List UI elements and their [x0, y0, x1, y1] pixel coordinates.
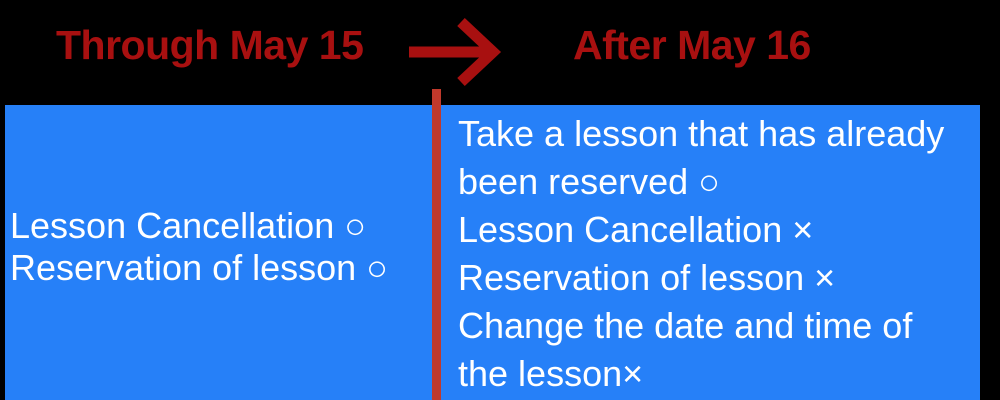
column-before: Lesson Cancellation ○ Reservation of les… [10, 205, 388, 289]
header-before-label: Through May 15 [56, 25, 363, 66]
comparison-graphic: Through May 15 After May 16 Lesson Cance… [0, 0, 1000, 400]
list-item: Lesson Cancellation × [458, 206, 944, 254]
column-divider [432, 89, 441, 400]
list-item: Lesson Cancellation ○ [10, 205, 388, 247]
arrow-right-icon [403, 14, 503, 88]
list-item: Take a lesson that has already [458, 110, 944, 158]
list-item: the lesson× [458, 350, 944, 398]
list-item: Change the date and time of [458, 302, 944, 350]
list-item: Reservation of lesson ○ [10, 247, 388, 289]
column-after: Take a lesson that has already been rese… [458, 110, 944, 398]
header-after-label: After May 16 [573, 25, 811, 66]
list-item: been reserved ○ [458, 158, 944, 206]
list-item: Reservation of lesson × [458, 254, 944, 302]
